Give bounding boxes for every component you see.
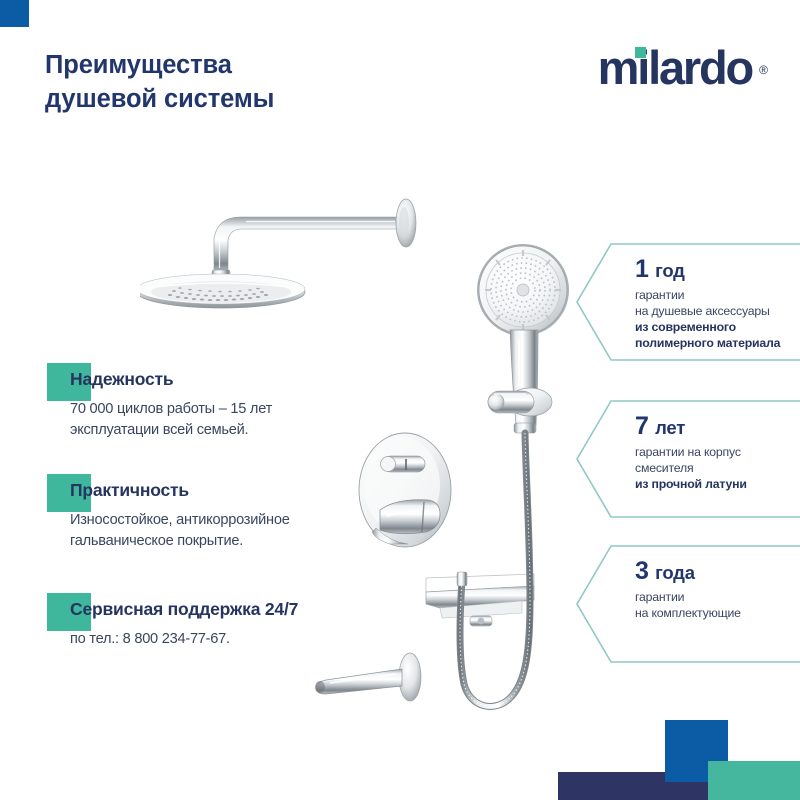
feature-body-line-1: Износостойкое, антикоррозийное	[70, 510, 377, 531]
brand-logo: milardo ®	[598, 42, 752, 94]
callout-line-2: на душевые аксессуары	[635, 303, 800, 319]
brand-logo-dot-accent	[635, 47, 646, 58]
callout-line-4: полимерного материала	[635, 335, 800, 351]
callout-content: 7 лет гарантии на корпус смесителя из пр…	[635, 413, 800, 492]
callout-line-1: гарантии на корпус	[635, 444, 800, 460]
registered-trademark-icon: ®	[759, 44, 768, 96]
flexible-hose	[457, 433, 530, 706]
callout-number-value: 3	[635, 557, 649, 585]
callout-number-value: 7	[635, 412, 649, 440]
callout-line-3: из прочной латуни	[635, 476, 800, 492]
callout-warranty-7-years: 7 лет гарантии на корпус смесителя из пр…	[575, 400, 800, 518]
callout-number: 7 лет	[635, 413, 800, 441]
rain-shower-head	[140, 274, 305, 308]
decor-square-teal-bottom	[708, 761, 800, 800]
feature-body-line-1: 70 000 циклов работы – 15 лет	[70, 399, 377, 420]
shower-arm-wall-flange	[396, 199, 416, 247]
feature-heading: Надежность	[70, 363, 377, 390]
feature-heading: Сервисная поддержка 24/7	[70, 593, 377, 620]
support-phone-number: по тел.: 8 800 234-77-67.	[70, 629, 377, 650]
decor-square-top-left	[0, 0, 29, 27]
callout-line-3: из современного	[635, 319, 800, 335]
feature-body: по тел.: 8 800 234-77-67.	[70, 629, 377, 650]
page-title-line-2: душевой системы	[45, 82, 375, 116]
diverter-knob[interactable]	[381, 456, 426, 472]
callout-number: 1 год	[635, 256, 800, 284]
waterfall-shelf-spout	[426, 574, 534, 626]
callout-warranty-1-year: 1 год гарантии на душевые аксессуары из …	[575, 243, 800, 361]
shower-holder	[488, 388, 552, 416]
callout-warranty-3-years: 3 года гарантии на комплектующие	[575, 545, 800, 663]
tub-spout	[315, 653, 421, 701]
callout-content: 1 год гарантии на душевые аксессуары из …	[635, 256, 800, 351]
callout-line-1: гарантии	[635, 287, 800, 303]
feature-item-practicality: Практичность Износостойкое, антикоррозий…	[47, 474, 377, 551]
callout-line-2: смесителя	[635, 460, 800, 476]
brand-logo-text: milardo	[598, 41, 752, 94]
brand-logo-wordmark: milardo ®	[598, 42, 752, 94]
callout-number: 3 года	[635, 558, 800, 586]
feature-heading: Практичность	[70, 474, 377, 501]
page-title-line-1: Преимущества	[45, 48, 375, 82]
shower-arm	[214, 217, 402, 272]
callout-line-1: гарантии	[635, 589, 800, 605]
callout-number-unit: год	[655, 260, 685, 281]
callout-content: 3 года гарантии на комплектующие	[635, 558, 800, 621]
feature-body: Износостойкое, антикоррозийное гальванич…	[70, 510, 377, 551]
feature-body-line-2: эксплуатации всей семьей.	[70, 420, 377, 441]
poster-canvas: Преимущества душевой системы milardo ® Н…	[0, 0, 800, 800]
feature-item-reliability: Надежность 70 000 циклов работы – 15 лет…	[47, 363, 377, 440]
page-title: Преимущества душевой системы	[45, 48, 375, 117]
callout-line-2: на комплектующие	[635, 605, 800, 621]
feature-body: 70 000 циклов работы – 15 лет эксплуатац…	[70, 399, 377, 440]
feature-body-line-2: гальваническое покрытие.	[70, 531, 377, 552]
callout-number-unit: лет	[655, 417, 685, 438]
callout-number-unit: года	[655, 562, 695, 583]
callout-number-value: 1	[635, 255, 649, 283]
